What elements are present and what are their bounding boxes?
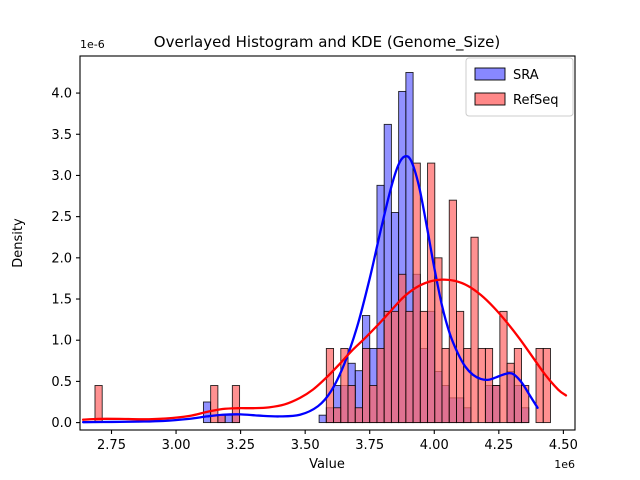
histogram-bar [319, 415, 326, 422]
legend-swatch-sra[interactable] [475, 68, 505, 80]
chart-title: Overlayed Histogram and KDE (Genome_Size… [154, 33, 500, 52]
legend-swatch-refseq[interactable] [475, 93, 505, 105]
histogram-bar [478, 348, 485, 422]
x-tick-label: 4.00 [420, 438, 449, 453]
histogram-bar [334, 408, 341, 423]
histogram-bar [348, 386, 355, 423]
matplotlib-figure: Overlayed Histogram and KDE (Genome_Size… [0, 0, 640, 480]
y-tick-label: 3.0 [51, 169, 72, 184]
x-tick-label: 4.50 [549, 438, 578, 453]
y-tick-label: 0.0 [51, 416, 72, 431]
histogram-bar [232, 386, 239, 423]
x-tick-label: 3.75 [355, 438, 384, 453]
histogram-bar [500, 311, 507, 422]
histogram-bar [225, 415, 232, 422]
histogram-bar [493, 386, 500, 423]
chart-legend[interactable]: SRARefSeq [466, 58, 573, 116]
y-tick-label: 1.0 [51, 334, 72, 349]
y-tick-label: 1.5 [51, 293, 72, 308]
chart-canvas: Overlayed Histogram and KDE (Genome_Size… [0, 0, 640, 480]
y-axis-label: Density [11, 218, 26, 268]
histogram-bar [514, 348, 521, 422]
histogram-bar [442, 348, 449, 422]
histogram-bar [362, 348, 369, 422]
x-tick-label: 3.50 [291, 438, 320, 453]
y-tick-label: 2.0 [51, 251, 72, 266]
histogram-bar [471, 237, 478, 422]
y-tick-label: 4.0 [51, 87, 72, 102]
x-tick-label: 3.25 [226, 438, 255, 453]
y-tick-label: 2.5 [51, 210, 72, 225]
histogram-bar [370, 386, 377, 423]
histogram-bar [485, 348, 492, 422]
histogram-bar [406, 311, 413, 422]
y-axis-offset-text: 1e-6 [80, 38, 105, 51]
histogram-bar [377, 348, 384, 422]
histogram-bar [391, 311, 398, 422]
histogram-bar [420, 311, 427, 422]
x-tick-label: 4.25 [484, 438, 513, 453]
histogram-bar [456, 311, 463, 422]
x-axis-label: Value [309, 457, 345, 472]
histogram-bar [428, 163, 435, 422]
y-tick-label: 3.5 [51, 128, 72, 143]
histogram-bar [218, 415, 225, 422]
x-tick-label: 2.75 [97, 438, 126, 453]
histogram-bar [464, 348, 471, 422]
histogram-bar [435, 258, 442, 423]
histogram-bar [413, 163, 420, 422]
histogram-bar [449, 200, 456, 422]
legend-label-refseq[interactable]: RefSeq [513, 93, 559, 108]
x-tick-label: 3.00 [162, 438, 191, 453]
histogram-bar [211, 386, 218, 423]
histogram-bar [326, 348, 333, 422]
y-tick-label: 0.5 [51, 375, 72, 390]
histogram-bar [543, 348, 550, 422]
histogram-bar [355, 408, 362, 423]
legend-label-sra[interactable]: SRA [513, 68, 539, 83]
x-axis-offset-text: 1e6 [554, 458, 575, 471]
histogram-bar [95, 386, 102, 423]
histogram-bar [536, 348, 543, 422]
histogram-bar [384, 311, 391, 422]
